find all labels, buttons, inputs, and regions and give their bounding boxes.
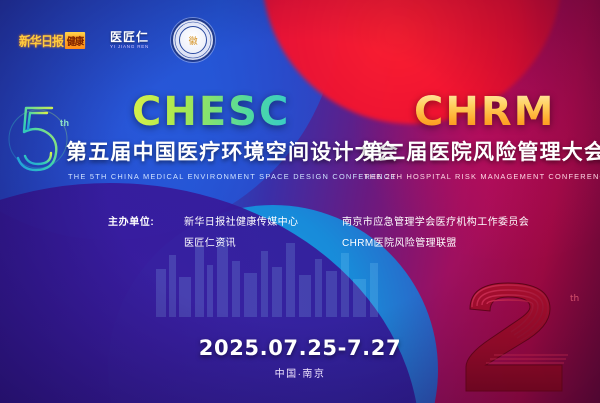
organizers-column-two: 南京市应急管理学会医疗机构工作委员会 CHRM医院风险管理联盟 xyxy=(342,212,529,254)
chrm-acronym: CHRM xyxy=(414,92,600,132)
yi-jiang-ren-logo: 医匠仁 YI JIANG REN xyxy=(110,31,149,50)
chrm-cn-title: 第二届医院风险管理大会 xyxy=(362,136,600,166)
conference-poster: th 新华日报 健康 医匠仁 YI JIANG REN 徽 xyxy=(0,0,600,403)
right-conference-block: CHRM 第二届医院风险管理大会 THE 2TH HOSPITAL RISK M… xyxy=(358,92,600,181)
yi-jiang-ren-logo-cn: 医匠仁 xyxy=(110,31,149,43)
chesc-en-title: THE 5TH CHINA MEDICAL ENVIRONMENT SPACE … xyxy=(68,172,358,181)
svg-text:th: th xyxy=(570,294,579,304)
xinhua-daily-logo-mark: 健康 xyxy=(65,32,85,49)
event-date: 2025.07.25-7.27 xyxy=(0,336,600,360)
event-location: 中国·南京 xyxy=(0,365,600,380)
xinhua-daily-logo-text: 新华日报 xyxy=(19,31,63,50)
xinhua-daily-logo: 新华日报 健康 xyxy=(19,30,85,50)
organizer-item: 南京市应急管理学会医疗机构工作委员会 xyxy=(342,212,529,233)
event-date-section: 2025.07.25-7.27 中国·南京 xyxy=(0,336,600,380)
organizers-column-one: 新华日报社健康传媒中心 医匠仁资讯 xyxy=(184,212,342,254)
association-seal-logo: 徽 xyxy=(171,18,215,62)
chrm-en-title: THE 2TH HOSPITAL RISK MANAGEMENT CONFERE… xyxy=(364,172,600,181)
yi-jiang-ren-logo-en: YI JIANG REN xyxy=(110,45,149,50)
organizer-item: 医匠仁资讯 xyxy=(184,233,342,254)
chesc-cn-title: 第五届中国医疗环境空间设计大会 xyxy=(66,136,358,166)
organizer-item: 新华日报社健康传媒中心 xyxy=(184,212,342,233)
left-conference-block: th CHESC 第五届中国医疗环境空间设计大会 THE 5TH CHINA M… xyxy=(0,92,358,181)
organizers-label: 主办单位: xyxy=(108,212,184,254)
edition-number-five-graphic xyxy=(8,100,70,178)
organizers-section: 主办单位: 新华日报社健康传媒中心 医匠仁资讯 南京市应急管理学会医疗机构工作委… xyxy=(108,212,529,254)
chesc-acronym: CHESC xyxy=(132,92,358,132)
seal-ring-graphic xyxy=(173,20,213,60)
conference-titles: th CHESC 第五届中国医疗环境空间设计大会 THE 5TH CHINA M… xyxy=(0,92,600,181)
edition-five-suffix: th xyxy=(60,118,70,128)
sponsor-logo-bar: 新华日报 健康 医匠仁 YI JIANG REN 徽 xyxy=(16,18,215,62)
organizer-item: CHRM医院风险管理联盟 xyxy=(342,233,529,254)
